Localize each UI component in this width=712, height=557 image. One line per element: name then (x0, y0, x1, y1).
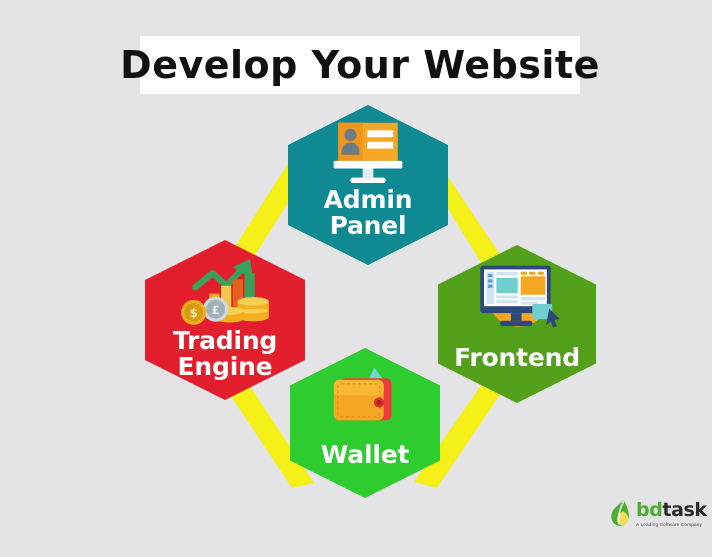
brand-tagline: A Leading Software Company (636, 522, 702, 527)
trading-chart-coins-icon: £ $ (177, 256, 273, 328)
wallet-icon (326, 364, 404, 430)
hex-node-wallet[interactable]: Wallet (290, 348, 440, 498)
svg-text:$: $ (190, 306, 198, 320)
svg-text:£: £ (212, 303, 220, 317)
hex-node-frontend[interactable]: Frontend (438, 245, 596, 403)
hex-label-frontend: Frontend (454, 345, 580, 371)
frontend-monitor-webpage-icon (469, 261, 565, 333)
title-banner: Develop Your Website (140, 36, 580, 94)
brand-name: bdtask (636, 501, 707, 520)
brand-wordmark: bdtask A Leading Software Company (636, 501, 707, 527)
brand-logo: bdtask A Leading Software Company (608, 496, 704, 532)
hex-label-wallet: Wallet (321, 442, 409, 468)
hex-label-trading-engine: TradingEngine (173, 328, 277, 379)
hex-label-line2: Engine (178, 352, 273, 381)
admin-monitor-user-icon (326, 121, 410, 187)
hex-label-line2: Panel (330, 211, 407, 240)
hex-label-admin-panel: AdminPanel (324, 187, 413, 238)
brand-name-part1: bd (636, 499, 662, 521)
page-title: Develop Your Website (120, 46, 600, 84)
brand-name-part2: task (662, 499, 706, 521)
hex-node-trading-engine[interactable]: £ $ TradingEngine (145, 240, 305, 400)
bdtask-leaf-icon (608, 499, 634, 529)
hex-node-admin-panel[interactable]: AdminPanel (288, 105, 448, 265)
infographic-canvas: Develop Your Website (0, 0, 712, 557)
